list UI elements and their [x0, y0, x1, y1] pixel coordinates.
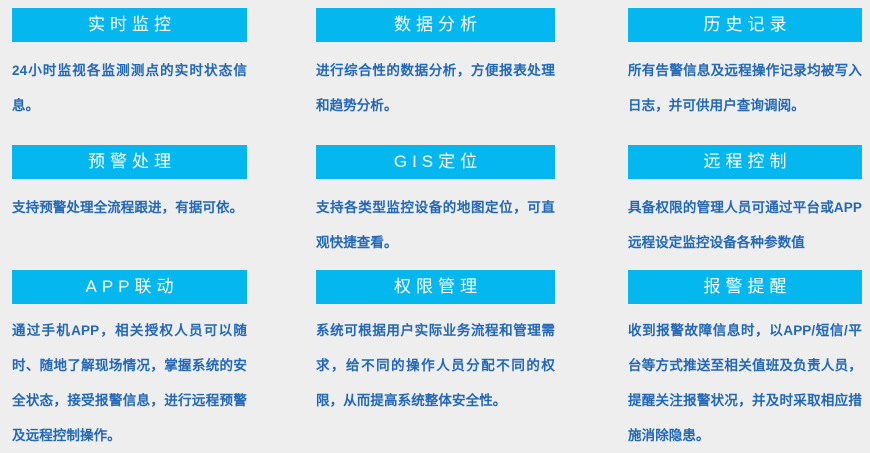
- card-title-history-records: 历史记录: [628, 8, 862, 42]
- feature-card-remote-control: 远程控制 具备权限的管理人员可通过平台或APP远程设定监控设备各种参数值: [600, 130, 870, 260]
- card-body-early-warning: 支持预警处理全流程跟进，有据可依。: [12, 190, 247, 225]
- feature-grid: 实时监控 24小时监视各监测测点的实时状态信息。 数据分析 进行综合性的数据分析…: [0, 0, 870, 450]
- card-body-realtime-monitoring: 24小时监视各监测测点的实时状态信息。: [12, 53, 247, 123]
- card-body-app-linkage: 通过手机APP，相关授权人员可以随时、随地了解现场情况，掌握系统的安全状态，接受…: [12, 313, 247, 453]
- card-title-gis-location: GIS定位: [316, 145, 555, 179]
- feature-card-gis-location: GIS定位 支持各类型监控设备的地图定位，可直观快捷查看。: [300, 130, 600, 260]
- card-title-realtime-monitoring: 实时监控: [12, 8, 247, 42]
- feature-card-alarm-reminder: 报警提醒 收到报警故障信息时，以APP/短信/平台等方式推送至相关值班及负责人员…: [600, 260, 870, 450]
- card-body-gis-location: 支持各类型监控设备的地图定位，可直观快捷查看。: [316, 190, 555, 260]
- card-title-permission-management: 权限管理: [316, 270, 555, 304]
- card-body-alarm-reminder: 收到报警故障信息时，以APP/短信/平台等方式推送至相关值班及负责人员，提醒关注…: [628, 313, 862, 453]
- feature-card-realtime-monitoring: 实时监控 24小时监视各监测测点的实时状态信息。: [0, 0, 300, 130]
- feature-card-data-analysis: 数据分析 进行综合性的数据分析，方便报表处理和趋势分析。: [300, 0, 600, 130]
- card-body-permission-management: 系统可根据用户实际业务流程和管理需求，给不同的操作人员分配不同的权限，从而提高系…: [316, 313, 555, 418]
- card-title-app-linkage: APP联动: [12, 270, 247, 304]
- card-title-alarm-reminder: 报警提醒: [628, 270, 862, 304]
- card-body-remote-control: 具备权限的管理人员可通过平台或APP远程设定监控设备各种参数值: [628, 190, 862, 260]
- card-body-data-analysis: 进行综合性的数据分析，方便报表处理和趋势分析。: [316, 53, 555, 123]
- feature-card-permission-management: 权限管理 系统可根据用户实际业务流程和管理需求，给不同的操作人员分配不同的权限，…: [300, 260, 600, 450]
- card-title-early-warning: 预警处理: [12, 145, 247, 179]
- feature-card-early-warning: 预警处理 支持预警处理全流程跟进，有据可依。: [0, 130, 300, 260]
- card-body-history-records: 所有告警信息及远程操作记录均被写入日志，并可供用户查询调阅。: [628, 53, 862, 123]
- card-title-remote-control: 远程控制: [628, 145, 862, 179]
- feature-card-history-records: 历史记录 所有告警信息及远程操作记录均被写入日志，并可供用户查询调阅。: [600, 0, 870, 130]
- feature-card-app-linkage: APP联动 通过手机APP，相关授权人员可以随时、随地了解现场情况，掌握系统的安…: [0, 260, 300, 450]
- card-title-data-analysis: 数据分析: [316, 8, 555, 42]
